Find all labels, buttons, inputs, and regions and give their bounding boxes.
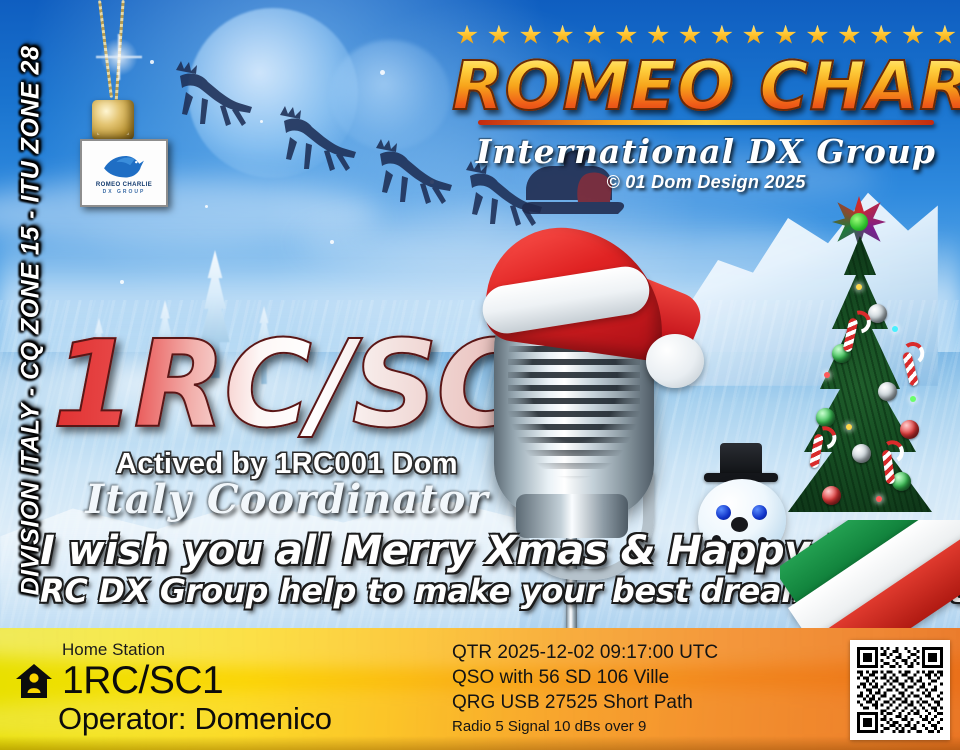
snowflake xyxy=(120,280,124,284)
tree-light-icon xyxy=(910,396,916,402)
qso-details: QTR 2025-12-02 09:17:00 UTC QSO with 56 … xyxy=(452,640,718,739)
candy-cane-icon xyxy=(902,351,919,386)
star-icon xyxy=(775,25,797,46)
header-subtitle: International DX Group xyxy=(452,132,960,171)
operator-text: Operator: Domenico xyxy=(58,702,332,736)
ornament-icon xyxy=(852,444,871,463)
ornament-icon xyxy=(900,420,919,439)
tree-light-icon xyxy=(824,372,830,378)
romeo-charlie-logo: ROMEO CHARLIE DX GROUP xyxy=(80,139,168,207)
qso-line-qrg: QRG USB 27525 Short Path xyxy=(452,690,718,715)
flying-reindeer-icon xyxy=(158,60,254,136)
tree-light-icon xyxy=(856,284,862,290)
role-text: Italy Coordinator xyxy=(52,476,522,523)
ornament-icon xyxy=(822,486,841,505)
home-station-label: Home Station xyxy=(62,640,165,660)
star-icon xyxy=(456,25,478,46)
star-icon xyxy=(520,25,542,46)
star-icon xyxy=(615,25,637,46)
sparkle-icon xyxy=(96,34,142,80)
tree-light-icon xyxy=(846,424,852,430)
zone-banner-text: DIVISION ITALY - CQ ZONE 15 - ITU ZONE 2… xyxy=(17,45,46,595)
signal-report: Radio 5 Signal 10 dBs over 9 xyxy=(452,715,718,739)
snowman-hat xyxy=(720,443,762,475)
star-icon xyxy=(488,25,510,46)
logo-name: ROMEO CHARLIE xyxy=(96,182,152,188)
ornament-icon xyxy=(878,382,897,401)
santa-hat-icon xyxy=(478,230,708,410)
star-row xyxy=(456,22,956,48)
dove-icon xyxy=(101,151,147,181)
callsign: 1RC/SC1 xyxy=(52,318,522,454)
home-station-callsign: 1RC/SC1 xyxy=(62,660,223,702)
gold-bauble-ornament-icon xyxy=(92,100,134,140)
copyright-text: © 01 Dom Design 2025 xyxy=(452,172,960,193)
star-icon xyxy=(711,25,733,46)
snowman-eye xyxy=(752,505,767,520)
home-station-row: 1RC/SC1 xyxy=(14,660,223,702)
star-icon xyxy=(806,25,828,46)
snowflake xyxy=(150,60,154,64)
qsl-card: DIVISION ITALY - CQ ZONE 15 - ITU ZONE 2… xyxy=(0,0,960,750)
star-icon xyxy=(679,25,701,46)
star-icon xyxy=(934,25,956,46)
star-icon xyxy=(902,25,924,46)
tree-light-icon xyxy=(876,496,882,502)
snowflake xyxy=(380,70,385,75)
ornament-icon xyxy=(892,472,911,491)
snowflake xyxy=(205,205,208,208)
flying-reindeer-icon xyxy=(262,105,358,181)
title-underline xyxy=(478,120,934,125)
flying-reindeer-icon xyxy=(358,138,454,214)
logo-subtitle: DX GROUP xyxy=(103,190,146,195)
italian-flag-ribbon xyxy=(780,520,960,640)
page-title: ROMEO CHARLIE xyxy=(452,48,960,124)
qso-line-with: QSO with 56 SD 106 Ville xyxy=(452,665,718,690)
star-icon xyxy=(647,25,669,46)
star-icon xyxy=(583,25,605,46)
qr-code-icon[interactable] xyxy=(850,640,950,740)
santa-hat-pompom xyxy=(646,334,704,388)
qso-line-qtr: QTR 2025-12-02 09:17:00 UTC xyxy=(452,640,718,665)
star-icon xyxy=(870,25,892,46)
star-icon xyxy=(743,25,765,46)
snowflake xyxy=(330,240,334,244)
snowman-eye xyxy=(716,505,731,520)
ornament-icon xyxy=(816,408,835,427)
qr-code-svg xyxy=(857,647,943,733)
tree-light-icon xyxy=(892,326,898,332)
star-icon xyxy=(838,25,860,46)
house-icon xyxy=(14,661,54,701)
star-icon xyxy=(552,25,574,46)
